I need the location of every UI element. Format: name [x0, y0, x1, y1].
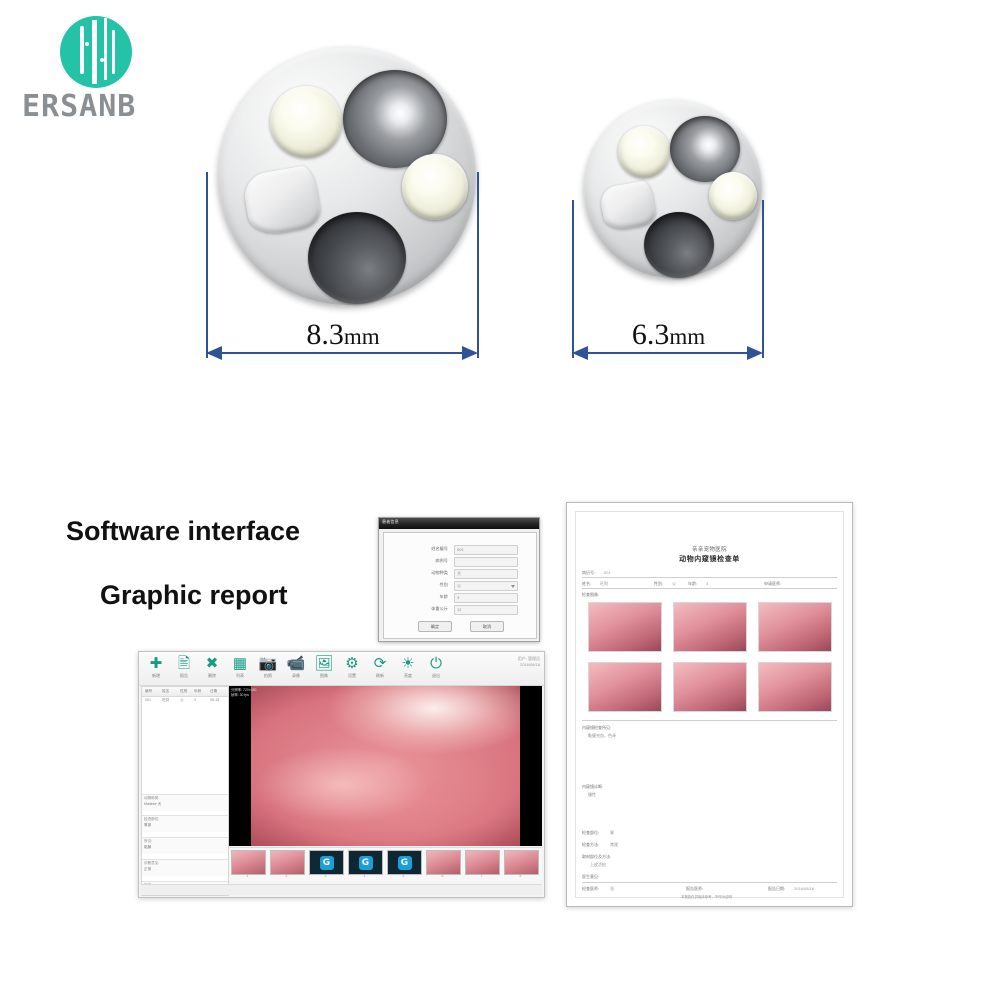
report-clinic-name: 亲亲宠物医院 — [576, 545, 843, 553]
patient-info-dialog[interactable]: 患者信息 姓名编号 001 病例号 动物种类 犬 性别 公 年龄 3 体重公斤 … — [378, 517, 540, 642]
thumbnail-caption: 5 — [387, 874, 420, 878]
dialog-field-label: 性别 — [410, 582, 448, 588]
thumbnail-image[interactable] — [270, 850, 305, 875]
dialog-field-label: 姓名编号 — [410, 546, 448, 552]
report-footer-label-examiner: 检查医师: — [582, 886, 599, 892]
dim-unit-large: mm — [344, 324, 380, 349]
detail-value: Maltese 犬 — [144, 802, 161, 807]
report-image — [758, 602, 832, 652]
endoscopic-image — [251, 686, 520, 846]
dim-line-small — [576, 352, 761, 354]
report-section-label-site: 检查部位: — [582, 830, 599, 836]
brand-logo: ERSANB — [22, 16, 162, 128]
report-rule-1 — [582, 577, 837, 578]
report-field-value-caseno: 001 — [604, 570, 611, 575]
software-date-label: 2016/08/18 — [518, 662, 540, 667]
toolbar-button-report[interactable]: 🖹报告 — [171, 655, 197, 679]
report-section-text-site: 胃 — [610, 830, 614, 836]
toolbar-label: 亮度 — [395, 673, 421, 679]
brand-wordmark: ERSANB — [22, 92, 162, 122]
brightness-icon: ☀ — [395, 655, 421, 672]
report-section-text-biopsy: 上皮活检 — [590, 862, 606, 868]
toolbar-label: 报告 — [171, 673, 197, 679]
dialog-field-label: 病例号 — [410, 558, 448, 564]
detail-field-species[interactable]: 动物种类: Maltese 犬 — [142, 794, 228, 811]
thumbnail-strip[interactable]: 1 2 G 3 G 4 G 5 6 7 8 — [229, 847, 542, 881]
thumbnail-video[interactable]: G — [309, 850, 344, 875]
thumbnail-video[interactable]: G — [387, 850, 422, 875]
report-footer-note: 本报告仅供临床参考，不作为证明 — [681, 894, 732, 899]
toolbar-label: 删除 — [199, 673, 225, 679]
toolbar-label: 退出 — [423, 673, 449, 679]
toolbar-button-brightness[interactable]: ☀亮度 — [395, 655, 421, 679]
toolbar-button-power[interactable]: ⏻退出 — [423, 655, 449, 679]
toolbar-label: 刷新 — [367, 673, 393, 679]
logo-dot-2 — [100, 58, 104, 62]
patient-cell-date: 08-18 — [210, 698, 219, 702]
dim-ext-left-large — [206, 172, 208, 358]
grid-icon: ▦ — [227, 655, 253, 672]
working-channel-large — [308, 212, 406, 304]
dialog-field-label: 体重公斤 — [410, 606, 448, 612]
dialog-field-input[interactable]: 犬 — [454, 569, 518, 579]
logo-bar-2 — [92, 20, 97, 84]
callout-graphic-report: Graphic report — [100, 580, 288, 611]
logo-bar-4 — [112, 30, 115, 74]
detail-field-findings[interactable]: 所见: 黏膜 — [142, 837, 228, 854]
thumbnail-caption: 8 — [504, 874, 537, 878]
detail-field-site[interactable]: 检查部位: 胃部 — [142, 815, 228, 832]
patient-col-name: 姓名 — [162, 689, 169, 694]
patient-cell-sex: 公 — [180, 698, 184, 703]
endoscope-tip-large — [208, 42, 478, 312]
dialog-confirm-button[interactable]: 确定 — [418, 621, 452, 632]
power-icon: ⏻ — [423, 655, 449, 672]
report-rule-4 — [582, 882, 837, 883]
patient-cell-age: 3 — [194, 698, 196, 702]
logo-dot-1 — [85, 42, 89, 46]
software-toolbar: ✚新增 🖹报告 ✖删除 ▦列表 📷拍照 📹录像 🖼图像 ⚙设置 ⟳刷新 ☀亮度 … — [139, 652, 544, 686]
patient-table-header: 编号 姓名 性别 年龄 日期 — [142, 687, 228, 697]
toolbar-button-new[interactable]: ✚新增 — [143, 655, 169, 679]
refresh-icon: ⟳ — [367, 655, 393, 672]
toolbar-button-record[interactable]: 📹录像 — [283, 655, 309, 679]
dialog-field-label: 动物种类 — [410, 570, 448, 576]
image-icon: 🖼 — [311, 655, 337, 672]
toolbar-button-image[interactable]: 🖼图像 — [311, 655, 337, 679]
video-badge-icon: G — [320, 856, 334, 870]
report-image — [588, 602, 662, 652]
dialog-field-label: 年龄 — [410, 594, 448, 600]
report-image — [588, 662, 662, 712]
patient-col-sex: 性别 — [180, 689, 187, 694]
toolbar-label: 拍照 — [255, 673, 281, 679]
report-section-label-biopsy: 取材部位及方法: — [582, 854, 611, 860]
report-title: 动物内窥镜检查单 — [576, 554, 843, 564]
software-user-datetime: 用户: 管理员 2016/08/18 — [518, 656, 540, 667]
report-section-label-method: 检查方法: — [582, 842, 599, 848]
toolbar-label: 新增 — [143, 673, 169, 679]
video-icon: 📹 — [283, 655, 309, 672]
thumbnail-image[interactable] — [465, 850, 500, 875]
detail-value: 黏膜 — [144, 845, 151, 850]
led-light-upper-large — [270, 86, 342, 158]
dialog-cancel-button[interactable]: 取消 — [470, 621, 504, 632]
report-section-text-method: 常规 — [610, 842, 618, 848]
dialog-field-value: 12 — [457, 607, 461, 612]
report-footer-label-reporter: 报告医师: — [686, 886, 703, 892]
report-field-label-caseno: 病历号: — [582, 570, 595, 576]
report-rule-2 — [582, 588, 837, 589]
thumbnail-caption: 1 — [231, 874, 264, 878]
patient-panel[interactable]: 编号 姓名 性别 年龄 日期 001 旺财 公 3 08-18 动物种类: Ma… — [141, 686, 229, 896]
thumbnail-image[interactable] — [231, 850, 266, 875]
patient-col-id: 编号 — [145, 689, 152, 694]
thumbnail-caption: 3 — [309, 874, 342, 878]
report-field-value-sex: 公 — [672, 581, 676, 587]
logo-bar-3 — [104, 18, 107, 80]
working-channel-small — [644, 212, 714, 278]
document-icon: 🖹 — [171, 655, 197, 672]
thumbnail-caption: 6 — [426, 874, 459, 878]
report-field-value-name: 旺财 — [600, 581, 608, 587]
overlay-framerate: 帧率: 30 fps — [231, 693, 256, 698]
report-field-label-doctor: 申请医师: — [764, 581, 781, 587]
toolbar-button-settings[interactable]: ⚙设置 — [339, 655, 365, 679]
plus-icon: ✚ — [143, 655, 169, 672]
report-footer-value-date: 2016/08/18 — [794, 886, 814, 891]
dim-label-small: 6.3mm — [576, 318, 761, 352]
thumbnail-caption: 4 — [348, 874, 381, 878]
dim-line-large — [210, 352, 476, 354]
report-section-text-diagnosis: 慢性 — [588, 792, 596, 798]
camera-icon: 📷 — [255, 655, 281, 672]
dialog-field-input[interactable] — [454, 557, 518, 567]
toolbar-label: 列表 — [227, 673, 253, 679]
thumbnail-caption: 2 — [270, 874, 303, 878]
video-badge-icon: G — [398, 856, 412, 870]
dialog-field-value: 3 — [457, 595, 459, 600]
report-image — [673, 602, 747, 652]
dialog-field-input[interactable]: 001 — [454, 545, 518, 555]
dim-ext-left-small — [572, 200, 574, 358]
detail-label: 诊断意见: — [144, 861, 159, 866]
dialog-field-input[interactable]: 3 — [454, 593, 518, 603]
detail-value: 正常 — [144, 867, 151, 872]
toolbar-button-capture[interactable]: 📷拍照 — [255, 655, 281, 679]
detail-field-diagnosis[interactable]: 诊断意见: 正常 — [142, 859, 228, 876]
report-image — [673, 662, 747, 712]
thumbnail-image[interactable] — [426, 850, 461, 875]
report-field-value-age: 3 — [706, 581, 708, 586]
logo-bar-1 — [80, 26, 84, 74]
report-section-label-opinion: 医生意见: — [582, 874, 599, 880]
toolbar-button-list[interactable]: ▦列表 — [227, 655, 253, 679]
detail-label: 所见: — [144, 839, 152, 844]
live-video-panel[interactable]: 分辨率: 720×480 帧率: 30 fps — [229, 686, 542, 846]
report-images-label: 检查图像: — [582, 592, 599, 598]
dim-ext-right-small — [762, 200, 764, 358]
dim-unit-small: mm — [669, 324, 705, 349]
thumbnail-image[interactable] — [504, 850, 539, 875]
dim-value-large: 8.3 — [306, 318, 344, 351]
dialog-body: 姓名编号 001 病例号 动物种类 犬 性别 公 年龄 3 体重公斤 12 确定… — [383, 532, 537, 639]
report-inner-frame: 亲亲宠物医院 动物内窥镜检查单 病历号: 001 姓名: 旺财 性别: 公 年龄… — [575, 511, 844, 898]
logo-circle-icon — [60, 16, 132, 88]
report-footer-label-date: 报告日期: — [768, 886, 785, 892]
toolbar-button-refresh[interactable]: ⟳刷新 — [367, 655, 393, 679]
report-footer-value-examiner: 张 — [610, 886, 614, 892]
patient-cell-name: 旺财 — [162, 698, 169, 703]
toolbar-label: 图像 — [311, 673, 337, 679]
callout-software-interface: Software interface — [66, 516, 300, 547]
report-field-label-age: 年龄: — [688, 581, 697, 587]
endoscope-tip-small — [576, 96, 766, 286]
report-rule-3 — [582, 720, 837, 721]
detail-label: 动物种类: — [144, 796, 159, 801]
thumbnail-video[interactable]: G — [348, 850, 383, 875]
software-statusbar — [141, 884, 542, 895]
dialog-field-select[interactable]: 公 — [454, 581, 518, 591]
gear-icon: ⚙ — [339, 655, 365, 672]
report-section-text-findings: 黏膜充血，色泽 — [588, 733, 616, 739]
report-section-label-findings: 内窥镜检查所见: — [582, 725, 611, 731]
dim-ext-right-large — [477, 172, 479, 358]
patient-col-date: 日期 — [210, 689, 217, 694]
detail-value: 胃部 — [144, 823, 151, 828]
patient-cell-id: 001 — [145, 698, 151, 702]
dim-label-large: 8.3mm — [210, 318, 476, 352]
report-field-label-sex: 性别: — [654, 581, 663, 587]
report-field-label-name: 姓名: — [582, 581, 591, 587]
dim-value-small: 6.3 — [632, 318, 670, 351]
dialog-field-value: 公 — [457, 583, 461, 589]
toolbar-button-delete[interactable]: ✖删除 — [199, 655, 225, 679]
dialog-titlebar[interactable]: 患者信息 — [379, 518, 539, 529]
close-icon: ✖ — [199, 655, 225, 672]
thumbnail-caption: 7 — [465, 874, 498, 878]
led-light-right-large — [402, 154, 468, 220]
dialog-field-value: 犬 — [457, 571, 461, 577]
detail-label: 检查部位: — [144, 817, 159, 822]
toolbar-label: 设置 — [339, 673, 365, 679]
video-overlay-text: 分辨率: 720×480 帧率: 30 fps — [231, 688, 256, 698]
patient-col-age: 年龄 — [194, 689, 201, 694]
video-badge-icon: G — [359, 856, 373, 870]
software-interface-window[interactable]: ✚新增 🖹报告 ✖删除 ▦列表 📷拍照 📹录像 🖼图像 ⚙设置 ⟳刷新 ☀亮度 … — [138, 651, 545, 898]
led-light-upper-small — [618, 126, 670, 178]
patient-list-body[interactable] — [142, 706, 228, 790]
dialog-field-value: 001 — [457, 547, 464, 552]
dialog-title: 患者信息 — [382, 519, 399, 525]
graphic-report-page[interactable]: 亲亲宠物医院 动物内窥镜检查单 病历号: 001 姓名: 旺财 性别: 公 年龄… — [566, 502, 853, 907]
report-image — [758, 662, 832, 712]
toolbar-label: 录像 — [283, 673, 309, 679]
led-light-right-small — [709, 172, 757, 220]
dialog-field-input[interactable]: 12 — [454, 605, 518, 615]
report-section-label-diagnosis: 内窥镜诊断: — [582, 784, 603, 790]
